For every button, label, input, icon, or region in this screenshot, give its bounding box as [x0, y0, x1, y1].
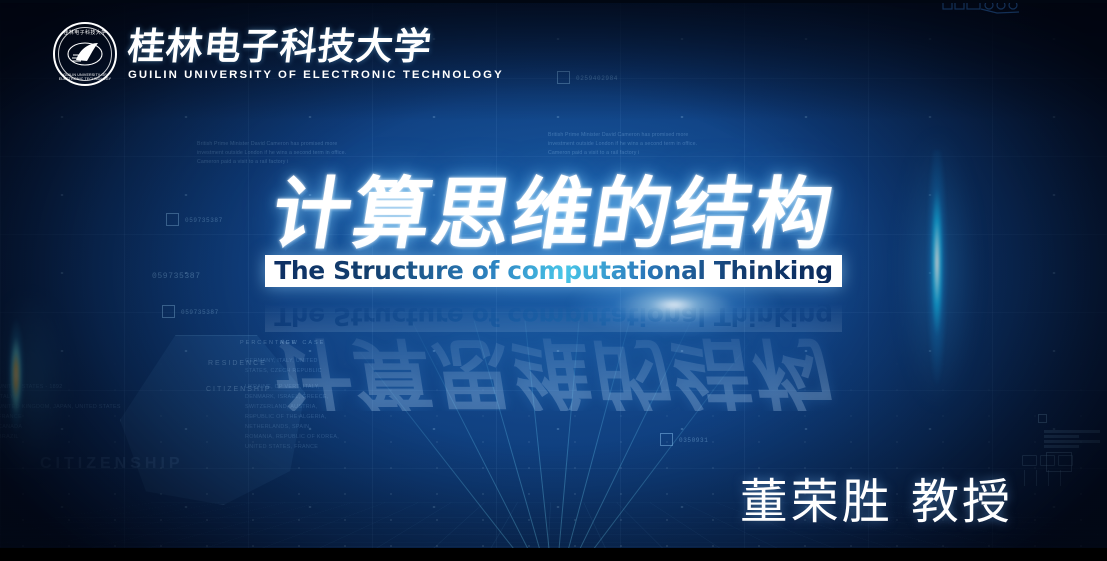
- hud-bar: [1044, 430, 1100, 433]
- hud-bar: [1044, 445, 1079, 448]
- pin-row-decoration: [1024, 470, 1061, 486]
- page-subtitle-en: The Structure of computational Thinking: [274, 258, 833, 283]
- pin-line: [1060, 470, 1061, 486]
- background-marker-box-4: [660, 433, 673, 446]
- hud-square-icon: [1038, 414, 1047, 423]
- hud-bar: [1044, 435, 1079, 438]
- subtitle-band: The Structure of computational Thinking: [265, 255, 842, 287]
- university-logo: 桂林电子科技大学 GUILIN UNIVERSITY OF ELECTRONIC…: [53, 22, 504, 86]
- title-slide: British Prime Minister David Cameron has…: [0, 0, 1107, 561]
- hud-bars: [1044, 430, 1100, 450]
- title-block: 计算思维的结构 The Structure of computational T…: [0, 176, 1107, 287]
- pin-line: [1048, 470, 1049, 486]
- letterbox-top-bar: [0, 0, 1107, 3]
- page-title-cn: 计算思维的结构: [267, 176, 839, 254]
- chip-icon: [1058, 455, 1073, 466]
- emblem-arc-text-cn: 桂林电子科技大学: [53, 29, 117, 36]
- university-name-en: GUILIN UNIVERSITY OF ELECTRONIC TECHNOLO…: [128, 69, 504, 81]
- presenter-name: 董荣胜 教授: [740, 462, 1013, 532]
- hud-bar: [1044, 440, 1100, 443]
- pin-line: [1024, 470, 1025, 486]
- letterbox-bottom-bar: 计算机学科的基本问题与核心概念: [0, 548, 1107, 561]
- chip-cluster-decoration: [1022, 455, 1073, 466]
- chip-icon: [1040, 455, 1055, 466]
- pin-line: [1036, 470, 1037, 486]
- background-marker-box-2: [557, 71, 570, 84]
- university-name-cn: 桂林电子科技大学: [126, 28, 506, 65]
- emblem-arc-text-en: GUILIN UNIVERSITY OF ELECTRONIC TECHNOLO…: [53, 73, 117, 81]
- university-emblem-icon: 桂林电子科技大学 GUILIN UNIVERSITY OF ELECTRONIC…: [53, 22, 117, 86]
- emblem-bird-icon: [67, 39, 103, 69]
- chip-icon: [1022, 455, 1037, 466]
- logo-text-block: 桂林电子科技大学 GUILIN UNIVERSITY OF ELECTRONIC…: [128, 28, 504, 81]
